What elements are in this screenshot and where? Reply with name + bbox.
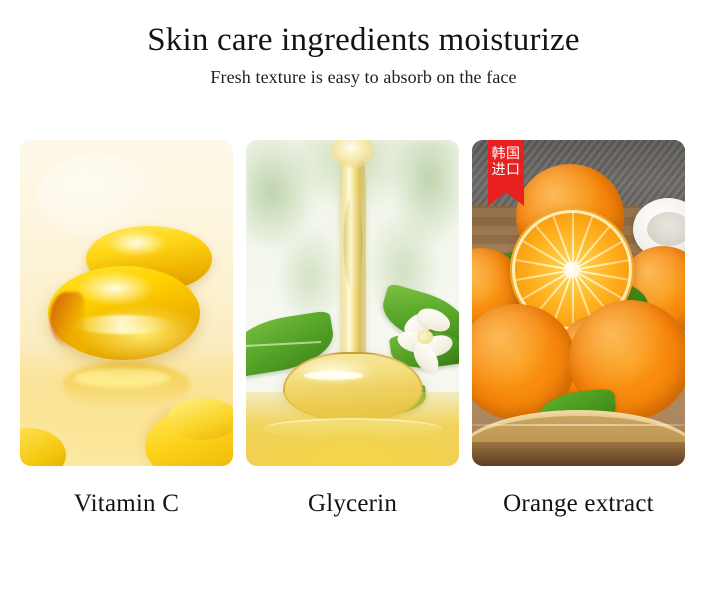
- caption-orange-extract: Orange extract: [472, 482, 685, 526]
- ingredient-panel-vitamin-c[interactable]: [20, 140, 233, 466]
- ingredient-panel-orange-extract[interactable]: 韩国 进口: [472, 140, 685, 466]
- ingredient-panel-glycerin[interactable]: [246, 140, 459, 466]
- caption-row: Vitamin C Glycerin Orange extract: [20, 482, 676, 526]
- softgel-capsule-bottom-right-small: [167, 398, 233, 440]
- oil-stream-waist: [343, 194, 362, 290]
- badge-line-2: 进口: [492, 162, 521, 178]
- caption-vitamin-c: Vitamin C: [20, 482, 233, 526]
- bamboo-basket-rim: [472, 424, 685, 426]
- badge-line-1: 韩国: [492, 146, 521, 162]
- ingredient-panel-row: 韩国 进口: [20, 140, 676, 466]
- page-title: Skin care ingredients moisturize: [0, 22, 727, 58]
- dark-wood-floor: [472, 442, 685, 466]
- white-bowl-inner: [647, 212, 685, 246]
- capsule-reflection-highlight: [74, 368, 170, 388]
- page-subtitle: Fresh texture is easy to absorb on the f…: [0, 67, 727, 88]
- caption-glycerin: Glycerin: [246, 482, 459, 526]
- page-header: Skin care ingredients moisturize Fresh t…: [0, 0, 727, 88]
- background-highlight: [37, 153, 156, 238]
- blossom-center: [417, 330, 433, 344]
- white-blossom: [395, 308, 457, 370]
- oil-pool-ripple: [263, 418, 442, 440]
- capsule-shadow-edge: [50, 292, 84, 346]
